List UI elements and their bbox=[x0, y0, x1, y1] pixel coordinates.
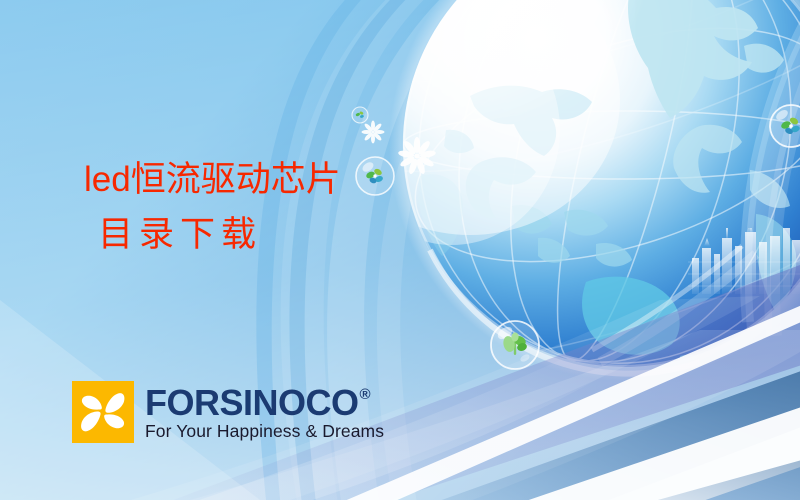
logo-wordmark-text: FORSINOCO bbox=[145, 385, 359, 420]
registered-trademark-icon: ® bbox=[360, 387, 371, 402]
title-line-1: led恒流驱动芯片 bbox=[84, 162, 341, 197]
bubble-pinwheel-left bbox=[356, 157, 394, 195]
logo-wordmark: FORSINOCO ® bbox=[145, 385, 384, 420]
bubble-leaf-center bbox=[491, 321, 539, 369]
logo-tagline: For Your Happiness & Dreams bbox=[145, 421, 384, 442]
company-logo: FORSINOCO ® For Your Happiness & Dreams bbox=[72, 381, 384, 443]
daisy-sparkle-small bbox=[362, 121, 385, 144]
title-line-2: 目录下载 bbox=[98, 217, 341, 252]
logo-text-group: FORSINOCO ® For Your Happiness & Dreams bbox=[145, 381, 384, 442]
four-petal-pinwheel-icon bbox=[72, 381, 134, 443]
bubble-top-left bbox=[352, 107, 368, 123]
slide-title: led恒流驱动芯片 目录下载 bbox=[84, 162, 341, 252]
slide-canvas: led恒流驱动芯片 目录下载 FORSINOCO ® bbox=[0, 0, 800, 500]
logo-mark bbox=[72, 381, 134, 443]
